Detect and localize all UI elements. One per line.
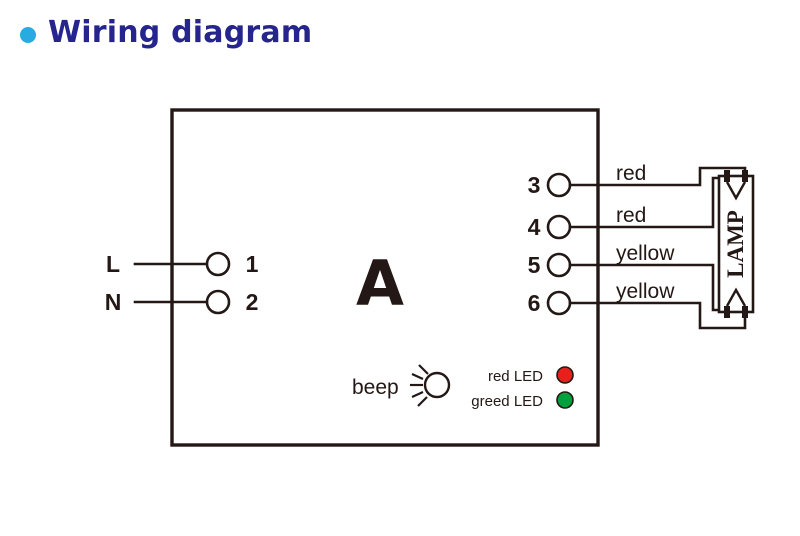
side-label-L: L — [106, 251, 120, 277]
terminal-number-2: 2 — [246, 289, 259, 315]
terminal-circle-3 — [548, 174, 570, 196]
terminal-circle-1 — [207, 253, 229, 275]
led-label-red: red LED — [488, 368, 543, 385]
terminal-circle-2 — [207, 291, 229, 313]
unit-letter-label: A — [356, 247, 404, 320]
wire-label-6: yellow — [616, 280, 675, 303]
wire-label-5: yellow — [616, 242, 675, 265]
terminal-number-4: 4 — [528, 214, 541, 240]
terminal-circle-4 — [548, 216, 570, 238]
lamp-pin-bottom-right — [742, 306, 748, 318]
beep-label: beep — [352, 376, 399, 399]
terminal-number-5: 5 — [528, 252, 541, 278]
led-indicator-red-icon — [557, 367, 573, 383]
lamp-label: LAMP — [723, 210, 748, 278]
wire-label-3: red — [616, 162, 646, 185]
lamp-pin-bottom-left — [724, 306, 730, 318]
terminal-circle-5 — [548, 254, 570, 276]
wiring-diagram: A L 1 N 2 3 red 4 red 5 yellow 6 — [0, 0, 800, 536]
led-indicator-green-icon — [557, 392, 573, 408]
terminal-number-3: 3 — [528, 172, 541, 198]
wire-label-4: red — [616, 204, 646, 227]
led-label-green: greed LED — [471, 393, 543, 410]
lamp-pin-top-left — [724, 170, 730, 182]
lamp-pin-top-right — [742, 170, 748, 182]
terminal-number-6: 6 — [528, 290, 541, 316]
page-root: Wiring diagram A L 1 N 2 3 red 4 red 5 — [0, 0, 800, 536]
side-label-N: N — [105, 289, 122, 315]
terminal-number-1: 1 — [246, 251, 259, 277]
terminal-circle-6 — [548, 292, 570, 314]
